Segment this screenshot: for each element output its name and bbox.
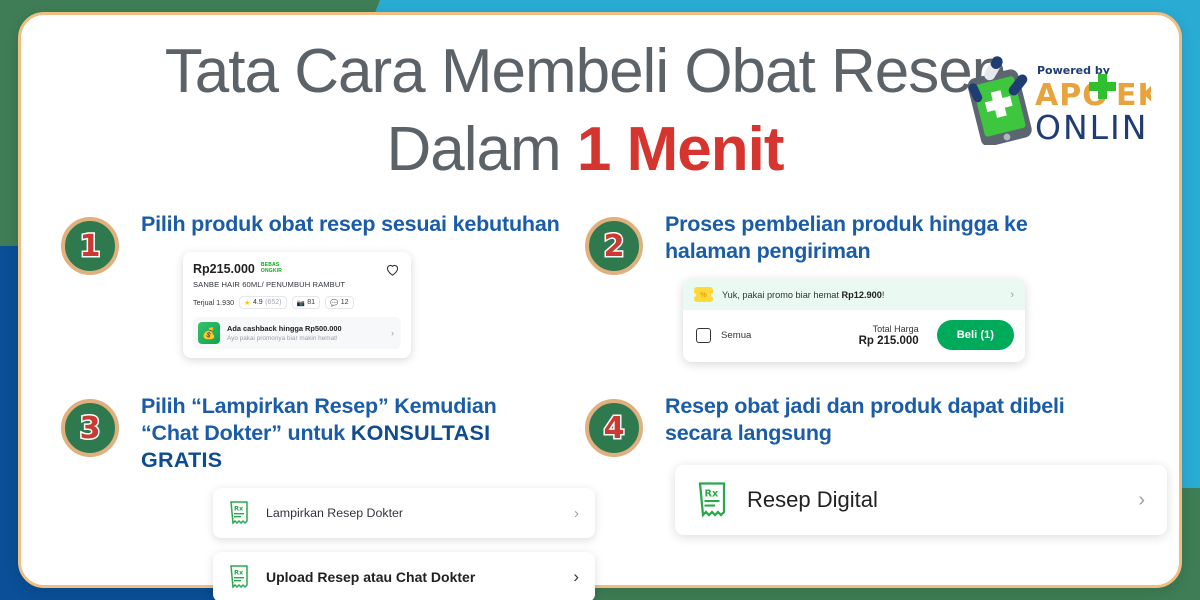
step-3-title-line2: “Chat Dokter” untuk KONSULTASI GRATIS (141, 420, 577, 474)
total-value: Rp 215.000 (859, 335, 919, 347)
page-title-accent: 1 Menit (577, 115, 784, 184)
checkout-footer: Semua Total Harga Rp 215.000 Beli (1) (683, 310, 1025, 362)
product-stats-row: Terjual 1.930 ★ 4.9 (652) 📷 81 (193, 296, 401, 309)
product-photo-chip: 📷 81 (292, 296, 321, 309)
prescription-rows: Rx Lampirkan Resep Dokter › Rx (213, 488, 595, 600)
logo-online: ONLINE (1035, 108, 1151, 145)
step-1-number: 1 (80, 229, 101, 264)
main-card: Tata Cara Membeli Obat Resep Dalam 1 Men… (18, 12, 1182, 588)
promo-chevron-right-icon[interactable]: › (1010, 289, 1014, 301)
product-photo-count: 81 (307, 299, 315, 306)
prescription-icon: Rx (697, 482, 727, 518)
step-3-title-line1: Pilih “Lampirkan Resep” Kemudian (141, 393, 577, 420)
svg-text:Rx: Rx (234, 569, 244, 577)
cashback-voucher-icon: 💰 (198, 322, 220, 344)
step-2-title-line1: Proses pembelian produk hingga ke (665, 211, 1185, 238)
step-4-title-line1: Resep obat jadi dan produk dapat dibeli (665, 393, 1185, 420)
step-2-badge: 2 (585, 217, 643, 275)
promo-text: Yuk, pakai promo biar hemat Rp12.900! (722, 290, 1001, 300)
step-1-badge: 1 (61, 217, 119, 275)
step-1-body: Pilih produk obat resep sesuai kebutuhan… (141, 211, 577, 393)
product-rating-count: (652) (265, 299, 281, 306)
step-2: 2 Proses pembelian produk hingga ke hala… (577, 211, 1185, 393)
promo-coupon-icon: % (694, 287, 713, 302)
product-sold-count: Terjual 1.930 (193, 298, 234, 307)
row-upload-resep-label: Upload Resep atau Chat Dokter (266, 569, 556, 585)
step-4-badge: 4 (585, 399, 643, 457)
product-rating-chip: ★ 4.9 (652) (239, 296, 286, 309)
cashback-banner[interactable]: 💰 Ada cashback hingga Rp500.000 Ayo paka… (193, 317, 401, 349)
step-2-title: Proses pembelian produk hingga ke halama… (665, 211, 1185, 265)
header: Tata Cara Membeli Obat Resep Dalam 1 Men… (21, 33, 1179, 189)
product-discussion-count: 12 (341, 299, 349, 306)
step-3: 3 Pilih “Lampirkan Resep” Kemudian “Chat… (61, 393, 577, 600)
step-2-title-line2: halaman pengiriman (665, 238, 1185, 265)
buy-button[interactable]: Beli (1) (937, 320, 1014, 350)
step-3-title-line2-prefix: “Chat Dokter” untuk (141, 421, 351, 445)
wishlist-heart-icon[interactable] (385, 262, 400, 277)
infographic-canvas: Tata Cara Membeli Obat Resep Dalam 1 Men… (0, 0, 1200, 600)
cashback-text: Ada cashback hingga Rp500.000 Ayo pakai … (227, 324, 384, 342)
product-rating-value: 4.9 (253, 299, 263, 306)
cashback-title: Ada cashback hingga Rp500.000 (227, 324, 384, 333)
select-all-label: Semua (721, 330, 849, 341)
step-3-number: 3 (80, 411, 101, 446)
promo-text-suffix: ! (882, 290, 885, 300)
promo-banner[interactable]: % Yuk, pakai promo biar hemat Rp12.900! … (683, 279, 1025, 310)
select-all-checkbox[interactable] (696, 328, 711, 343)
logo-svg: Powered by APO EK ONLINE (953, 53, 1151, 145)
row-resep-digital-label: Resep Digital (747, 487, 1118, 513)
step-3-title: Pilih “Lampirkan Resep” Kemudian “Chat D… (141, 393, 577, 474)
row-lampirkan-resep[interactable]: Rx Lampirkan Resep Dokter › (213, 488, 595, 538)
apotek-online-logo: Powered by APO EK ONLINE (953, 53, 1151, 145)
row-upload-resep[interactable]: Rx Upload Resep atau Chat Dokter › (213, 552, 595, 600)
step-3-badge: 3 (61, 399, 119, 457)
row-resep-digital[interactable]: Rx Resep Digital › (675, 465, 1167, 535)
free-shipping-badge: BEBAS ONGKIR (261, 263, 291, 274)
product-discussion-chip: 💬 12 (325, 296, 354, 309)
product-price-row: Rp215.000 BEBAS ONGKIR (193, 262, 401, 276)
svg-text:Rx: Rx (234, 505, 244, 513)
checkout-card[interactable]: % Yuk, pakai promo biar hemat Rp12.900! … (683, 279, 1025, 362)
step-4-title-line2: secara langsung (665, 420, 1185, 447)
cashback-chevron-right-icon[interactable]: › (391, 328, 394, 338)
row-lampirkan-resep-label: Lampirkan Resep Dokter (266, 506, 557, 520)
cashback-subtitle: Ayo pakai promonya biar makin hemat! (227, 335, 384, 342)
prescription-icon: Rx (229, 565, 249, 589)
row-resep-digital-chevron-right-icon[interactable]: › (1138, 489, 1145, 512)
step-4: 4 Resep obat jadi dan produk dapat dibel… (577, 393, 1185, 600)
product-price: Rp215.000 (193, 262, 255, 276)
step-4-title: Resep obat jadi dan produk dapat dibeli … (665, 393, 1185, 447)
total-block: Total Harga Rp 215.000 (859, 324, 919, 347)
product-name: SANBE HAIR 60ML/ PENUMBUH RAMBUT (193, 280, 401, 289)
digital-row-wrap: Rx Resep Digital › (675, 465, 1167, 535)
step-1-title: Pilih produk obat resep sesuai kebutuhan (141, 211, 577, 238)
prescription-icon: Rx (229, 501, 249, 525)
step-2-number: 2 (604, 229, 625, 264)
svg-text:Rx: Rx (705, 488, 720, 499)
star-icon: ★ (244, 299, 250, 307)
promo-amount: Rp12.900 (842, 290, 882, 300)
step-1: 1 Pilih produk obat resep sesuai kebutuh… (61, 211, 577, 393)
promo-text-prefix: Yuk, pakai promo biar hemat (722, 290, 842, 300)
chat-icon: 💬 (330, 299, 338, 307)
step-3-body: Pilih “Lampirkan Resep” Kemudian “Chat D… (141, 393, 577, 600)
step-4-body: Resep obat jadi dan produk dapat dibeli … (665, 393, 1185, 600)
camera-icon: 📷 (297, 299, 305, 307)
steps-grid: 1 Pilih produk obat resep sesuai kebutuh… (61, 211, 1185, 600)
page-title-line2-prefix: Dalam (387, 115, 577, 184)
total-label: Total Harga (859, 324, 919, 334)
step-2-body: Proses pembelian produk hingga ke halama… (665, 211, 1185, 393)
step-4-number: 4 (604, 411, 625, 446)
product-card[interactable]: Rp215.000 BEBAS ONGKIR SANBE HAIR 60ML/ … (183, 252, 411, 358)
